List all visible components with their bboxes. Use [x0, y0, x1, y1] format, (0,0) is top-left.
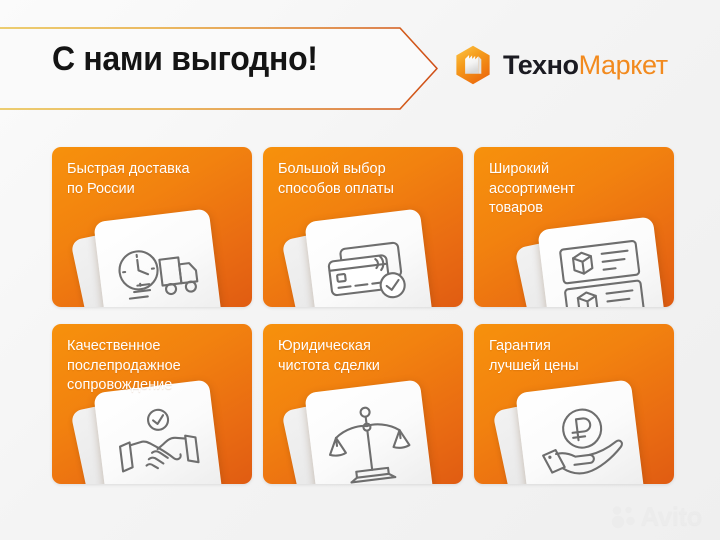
- brand-name-part2: Маркет: [579, 50, 668, 80]
- avito-logo-icon: [610, 504, 636, 530]
- brand-logo[interactable]: ТехноМаркет: [452, 44, 668, 86]
- clock-truck-icon: [108, 235, 207, 307]
- note-card-front: [93, 208, 222, 307]
- benefit-card-fast-delivery[interactable]: Быстрая доставка по России: [52, 147, 252, 307]
- benefit-card-title: Широкий ассортимент товаров: [474, 147, 674, 219]
- benefit-card-best-price-guarantee[interactable]: Гарантия лучшей цены: [474, 324, 674, 484]
- benefit-card-title: Гарантия лучшей цены: [474, 324, 674, 376]
- note-card-front: [537, 216, 666, 307]
- header: С нами выгодно!: [0, 0, 720, 136]
- note-card-front: [515, 379, 644, 484]
- benefit-card-title: Большой выбор способов оплаты: [263, 147, 463, 199]
- credit-card-check-icon: [321, 235, 416, 307]
- avito-watermark-label: Avito: [640, 501, 702, 532]
- benefit-card-title: Качественное послепродажное сопровождени…: [52, 324, 252, 396]
- brand-logo-text: ТехноМаркет: [503, 50, 668, 81]
- justice-scales-icon: [322, 399, 415, 484]
- promo-banner-root: С нами выгодно!: [0, 0, 720, 540]
- note-card-front: [304, 379, 433, 484]
- benefit-card-title: Юридическая чистота сделки: [263, 324, 463, 376]
- page-title: С нами выгодно!: [52, 40, 318, 79]
- benefit-card-payment-methods[interactable]: Большой выбор способов оплаты: [263, 147, 463, 307]
- brand-name-part1: Техно: [503, 50, 579, 80]
- handshake-check-icon: [110, 403, 206, 484]
- product-list-boxes-icon: [554, 236, 649, 307]
- benefit-card-title: Быстрая доставка по России: [52, 147, 252, 199]
- benefit-card-wide-assortment[interactable]: Широкий ассортимент товаров: [474, 147, 674, 307]
- benefit-card-after-sales-support[interactable]: Качественное послепродажное сопровождени…: [52, 324, 252, 484]
- hand-ruble-coin-icon: [532, 402, 628, 484]
- benefit-card-legal-purity[interactable]: Юридическая чистота сделки: [263, 324, 463, 484]
- benefits-grid: Быстрая доставка по России: [52, 147, 674, 484]
- note-card-front: [304, 208, 433, 307]
- hexagon-building-logo-icon: [452, 44, 494, 86]
- avito-watermark: Avito: [610, 501, 702, 532]
